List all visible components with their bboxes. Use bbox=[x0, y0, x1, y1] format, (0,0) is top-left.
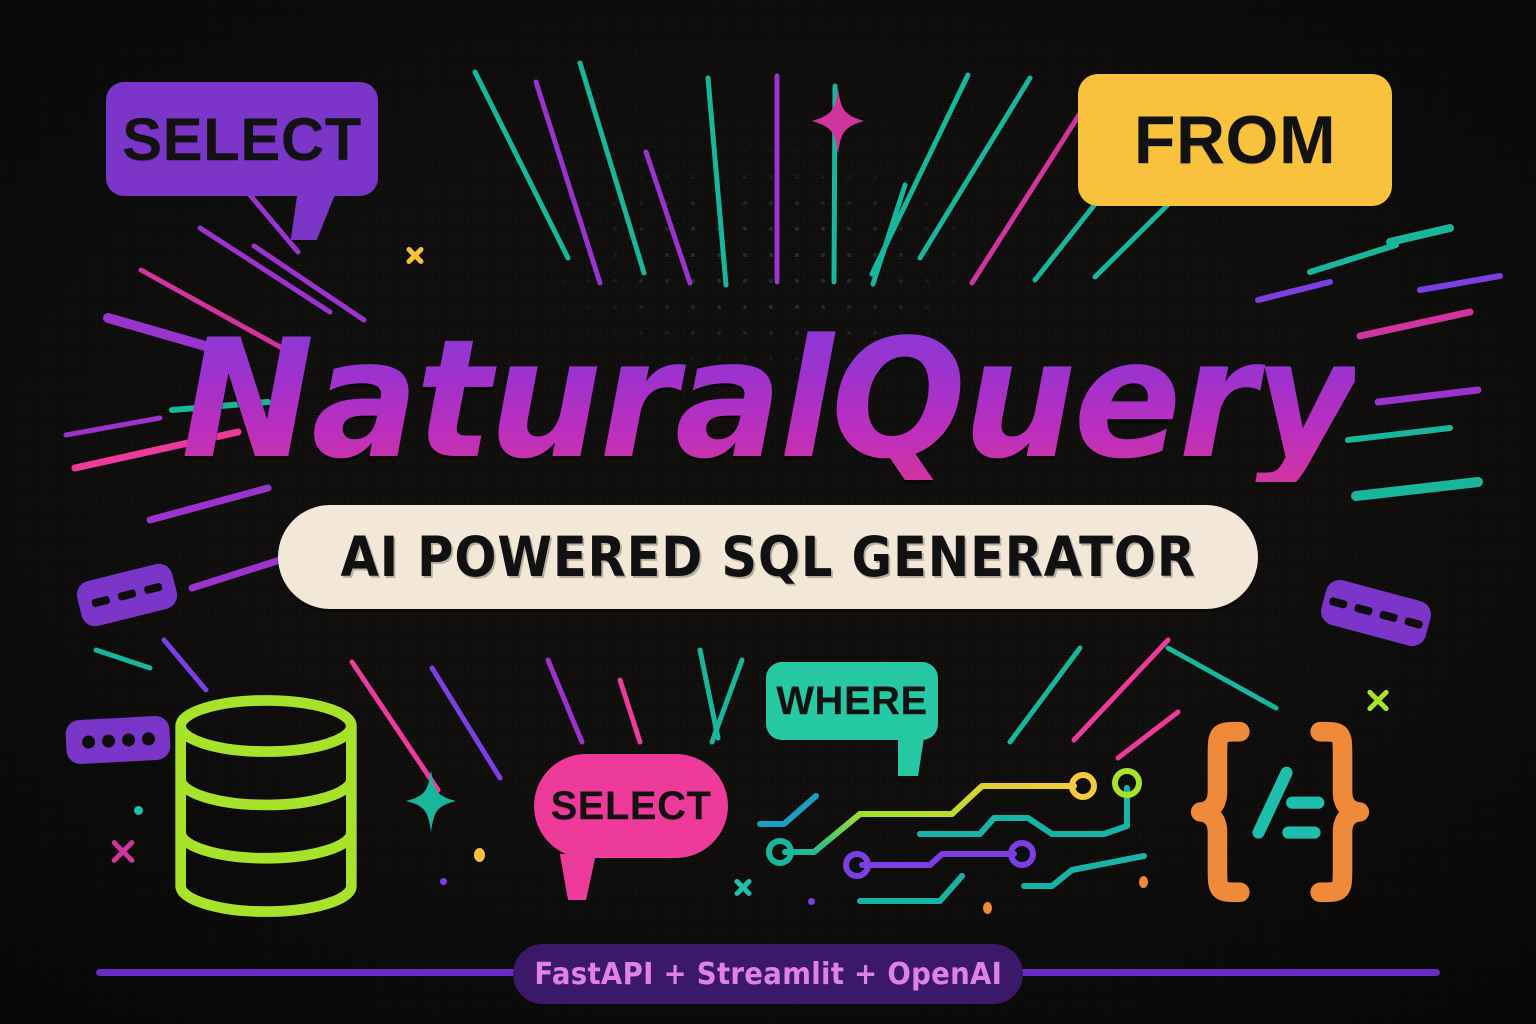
speech-tail bbox=[291, 194, 335, 240]
dot-purple bbox=[440, 878, 447, 885]
code-braces-icon bbox=[1182, 718, 1378, 906]
x-mark-lime-icon bbox=[1364, 686, 1392, 714]
chip-dash bbox=[1404, 617, 1423, 629]
database-cylinder-icon bbox=[170, 694, 362, 918]
chip-dash bbox=[1379, 610, 1398, 622]
chip-dot bbox=[101, 734, 115, 748]
badge-select-pink-label: SELECT bbox=[551, 784, 712, 829]
footer-rule-right bbox=[1010, 969, 1440, 976]
badge-where[interactable]: WHERE bbox=[766, 662, 938, 740]
footer-rule-left bbox=[96, 969, 526, 976]
x-mark-yellow-icon bbox=[404, 244, 426, 266]
circuit-traces-icon bbox=[752, 748, 1172, 928]
badge-select-top-label: SELECT bbox=[122, 105, 362, 174]
star-4-point-teal-icon bbox=[406, 770, 456, 832]
poster-canvas: SELECT FROM WHERE SELECT NaturalQuery AI… bbox=[0, 0, 1536, 1024]
badge-from-label: FROM bbox=[1134, 101, 1336, 179]
dot-yellow bbox=[474, 848, 485, 862]
chip-dash bbox=[91, 595, 110, 607]
title-container: NaturalQuery bbox=[0, 318, 1536, 482]
subtitle-text: AI POWERED SQL GENERATOR bbox=[340, 525, 1195, 589]
chip-dash bbox=[117, 589, 136, 601]
speech-tail bbox=[898, 738, 924, 776]
chip-dots-left bbox=[65, 715, 171, 764]
star-4-point-magenta-icon bbox=[812, 88, 864, 154]
badge-where-label: WHERE bbox=[776, 679, 927, 724]
dot-cyan bbox=[134, 806, 143, 815]
badge-select-pink[interactable]: SELECT bbox=[534, 754, 728, 858]
x-mark-magenta-icon bbox=[108, 836, 138, 866]
badge-from[interactable]: FROM bbox=[1078, 74, 1392, 206]
chip-dot bbox=[121, 733, 135, 747]
footer-text: FastAPI + Streamlit + OpenAI bbox=[534, 957, 1002, 992]
chip-dot bbox=[141, 732, 155, 746]
page-title: NaturalQuery bbox=[181, 318, 1355, 482]
chip-dash bbox=[1329, 597, 1348, 609]
chip-dot bbox=[81, 735, 95, 749]
chip-dash bbox=[143, 582, 162, 594]
subtitle-pill: AI POWERED SQL GENERATOR bbox=[278, 505, 1258, 609]
badge-select-top[interactable]: SELECT bbox=[106, 82, 378, 196]
chip-dash bbox=[1354, 603, 1373, 615]
footer-pill: FastAPI + Streamlit + OpenAI bbox=[513, 944, 1023, 1004]
x-mark-cyan-icon bbox=[732, 876, 754, 898]
